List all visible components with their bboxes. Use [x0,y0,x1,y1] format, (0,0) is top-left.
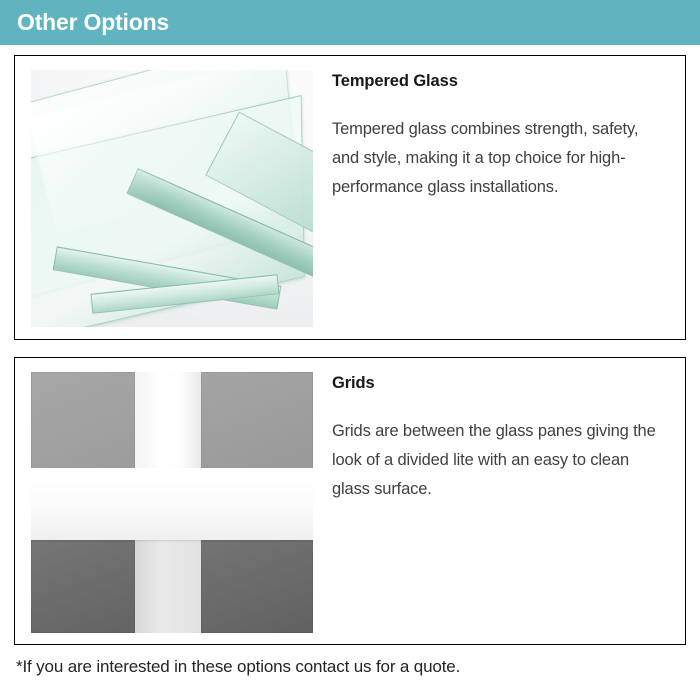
card-heading: Grids [332,372,669,394]
glass-pane-top-right [201,372,313,470]
footer-note: *If you are interested in these options … [16,655,460,679]
card-heading: Tempered Glass [332,70,669,92]
window-grids-photo [31,372,313,633]
tempered-glass-photo [31,70,313,327]
grid-illustration [31,372,313,633]
glass-pane-top-left [31,372,135,470]
grid-bar-horizontal [31,468,313,540]
card-description: Tempered glass combines strength, safety… [332,115,669,202]
card-body-tempered-glass: Tempered Glass Tempered glass combines s… [313,56,685,202]
other-options-page: Other Options Tempered Glass Tempered gl… [0,0,700,700]
card-body-grids: Grids Grids are between the glass panes … [313,358,685,504]
page-header: Other Options [0,0,700,45]
glass-pane-bottom-left [31,539,135,633]
option-card-tempered-glass[interactable]: Tempered Glass Tempered glass combines s… [14,55,686,340]
option-card-grids[interactable]: Grids Grids are between the glass panes … [14,357,686,645]
page-title: Other Options [17,7,169,37]
glass-pane-bottom-right [201,539,313,633]
card-description: Grids are between the glass panes giving… [332,417,669,504]
glass-illustration [31,70,313,327]
grid-bar-vertical-lower [135,539,201,633]
